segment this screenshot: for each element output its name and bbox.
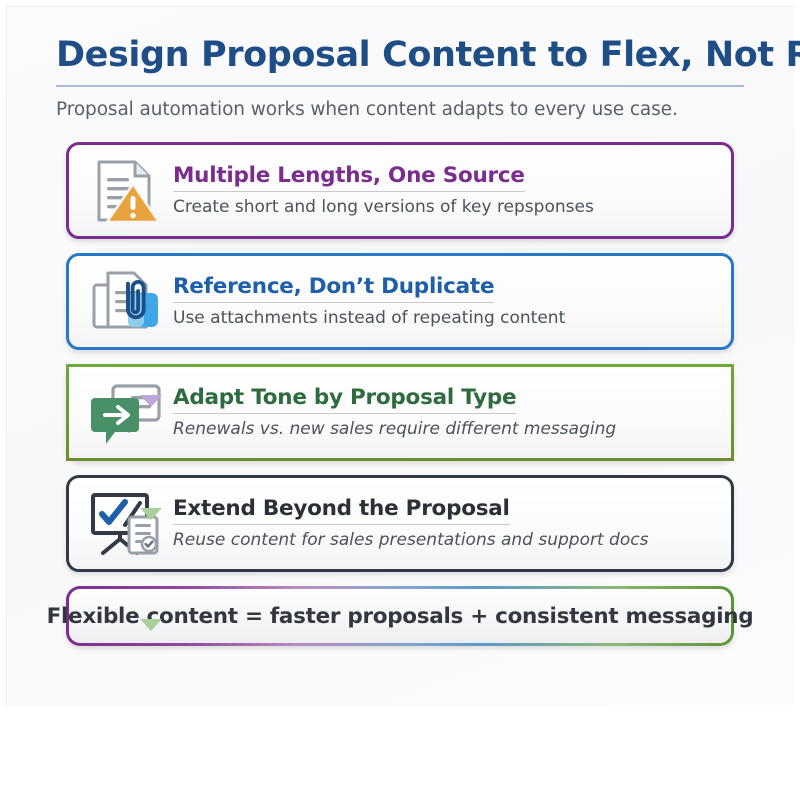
card-extend-beyond[interactable]: Extend Beyond the Proposal Reuse content…	[66, 475, 734, 572]
card-title: Multiple Lengths, One Source	[173, 164, 525, 192]
card-multiple-lengths[interactable]: Multiple Lengths, One Source Create shor…	[66, 142, 734, 239]
card-title: Reference, Don’t Duplicate	[173, 275, 494, 303]
card-subtitle: Create short and long versions of key re…	[173, 197, 719, 217]
connector-arrow-1	[140, 395, 162, 407]
presentation-board-check-icon	[85, 487, 167, 561]
card-text-block: Reference, Don’t Duplicate Use attachmen…	[167, 275, 731, 328]
card-subtitle: Reuse content for sales presentations an…	[173, 530, 719, 550]
card-subtitle: Use attachments instead of repeating con…	[173, 308, 719, 328]
card-stack: Multiple Lengths, One Source Create shor…	[0, 142, 800, 646]
footer-banner[interactable]: Flexible content = faster proposals + co…	[69, 589, 731, 643]
card-reference-dont-duplicate[interactable]: Reference, Don’t Duplicate Use attachmen…	[66, 253, 734, 350]
documents-paperclip-icon	[85, 265, 167, 339]
title-divider	[56, 85, 744, 87]
card-title: Extend Beyond the Proposal	[173, 497, 510, 525]
card-text-block: Multiple Lengths, One Source Create shor…	[167, 164, 731, 217]
connector-arrow-3	[140, 619, 162, 631]
chat-bubbles-arrow-icon	[85, 376, 167, 450]
card-subtitle: Renewals vs. new sales require different…	[173, 419, 719, 439]
connector-arrow-2	[140, 508, 162, 520]
card-text-block: Extend Beyond the Proposal Reuse content…	[167, 497, 731, 550]
page-subtitle: Proposal automation works when content a…	[56, 99, 744, 120]
document-warning-icon	[85, 154, 167, 228]
poster-content: Design Proposal Content to Flex, Not Rep…	[0, 0, 800, 800]
header: Design Proposal Content to Flex, Not Rep…	[0, 0, 800, 120]
footer-banner-frame: Flexible content = faster proposals + co…	[66, 586, 734, 646]
card-text-block: Adapt Tone by Proposal Type Renewals vs.…	[167, 386, 731, 439]
page-title: Design Proposal Content to Flex, Not Rep…	[56, 36, 744, 75]
card-adapt-tone[interactable]: Adapt Tone by Proposal Type Renewals vs.…	[66, 364, 734, 461]
infographic-poster: Design Proposal Content to Flex, Not Rep…	[0, 0, 800, 800]
card-title: Adapt Tone by Proposal Type	[173, 386, 516, 414]
